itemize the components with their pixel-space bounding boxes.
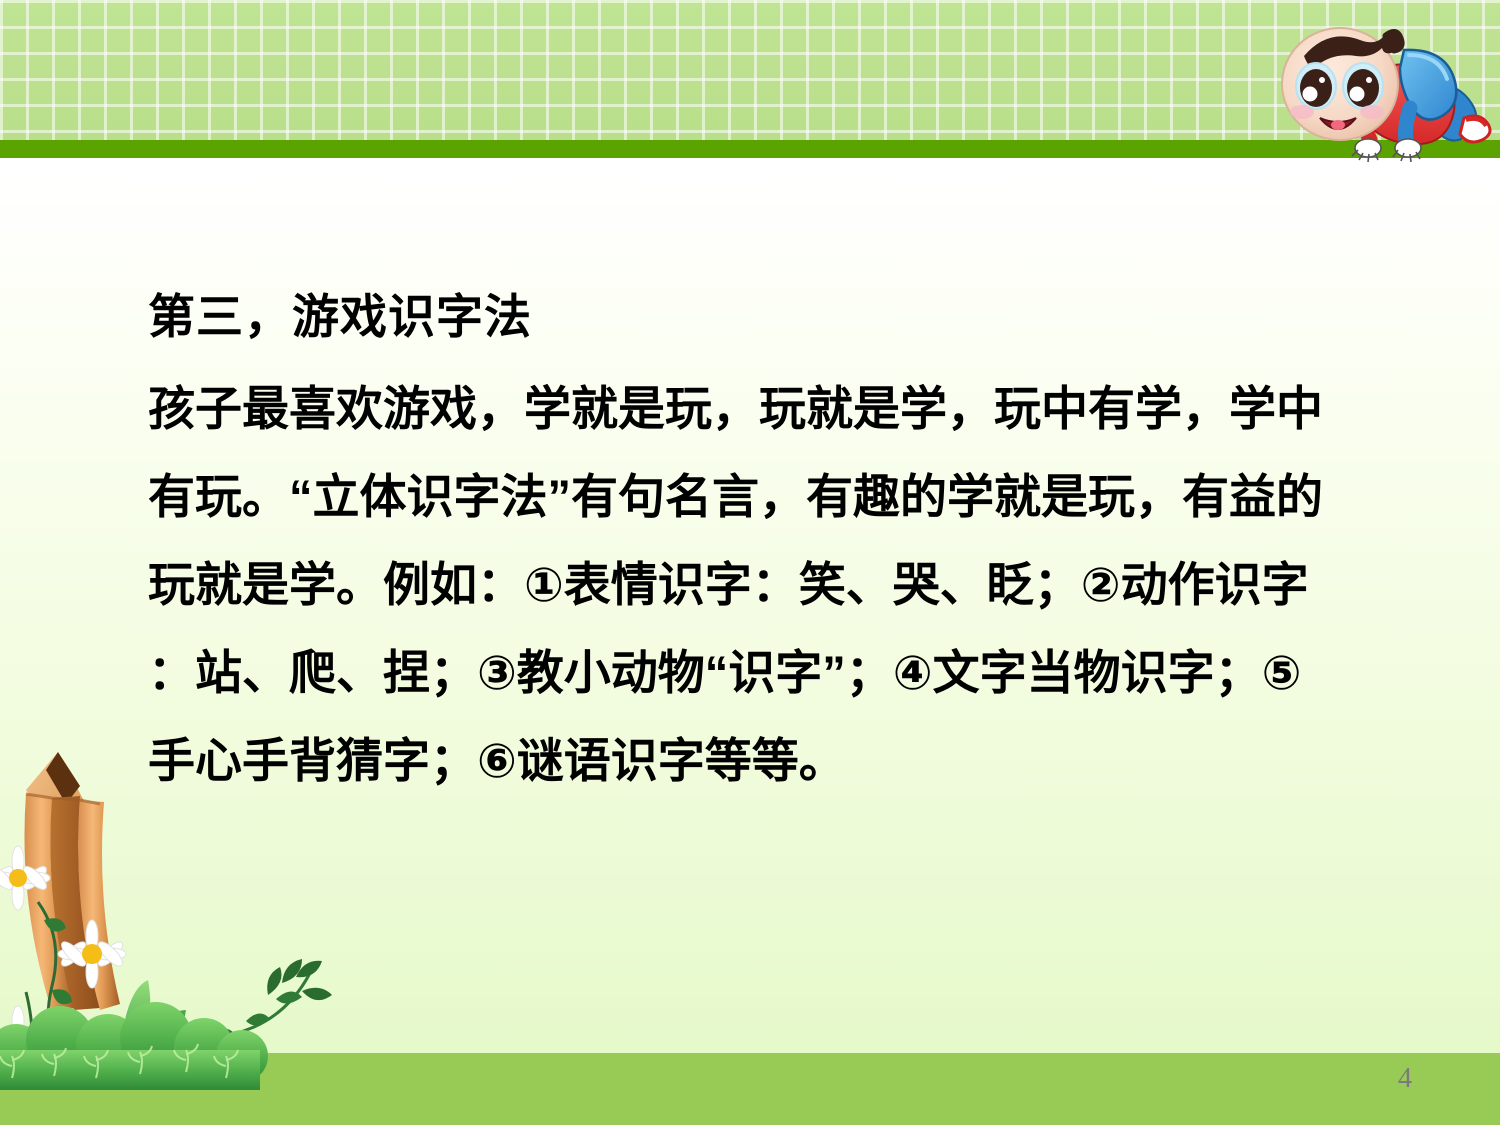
page-number: 4 <box>1398 1063 1412 1095</box>
slide-canvas: 第三，游戏识字法 孩子最喜欢游戏，学就是玩，玩就是学，玩中有学，学中 有玩。“立… <box>0 0 1500 1125</box>
slide-text-block: 第三，游戏识字法 孩子最喜欢游戏，学就是玩，玩就是学，玩中有学，学中 有玩。“立… <box>148 288 1428 805</box>
body-line-4: ：站、爬、捏；③教小动物“识字”；④文字当物识字；⑤ <box>148 629 1428 717</box>
body-line-5: 手心手背猜字；⑥谜语识字等等。 <box>148 717 1428 805</box>
body-line-3: 玩就是学。例如：①表情识字：笑、哭、眨；②动作识字 <box>148 541 1428 629</box>
body-line-1: 孩子最喜欢游戏，学就是玩，玩就是学，玩中有学，学中 <box>148 365 1428 453</box>
crawling-child-mascot-icon <box>1268 22 1498 162</box>
green-bush-icon <box>0 960 550 1090</box>
body-line-2: 有玩。“立体识字法”有句名言，有趣的学就是玩，有益的 <box>148 453 1428 541</box>
page-title: 第三，游戏识字法 <box>148 288 1428 347</box>
